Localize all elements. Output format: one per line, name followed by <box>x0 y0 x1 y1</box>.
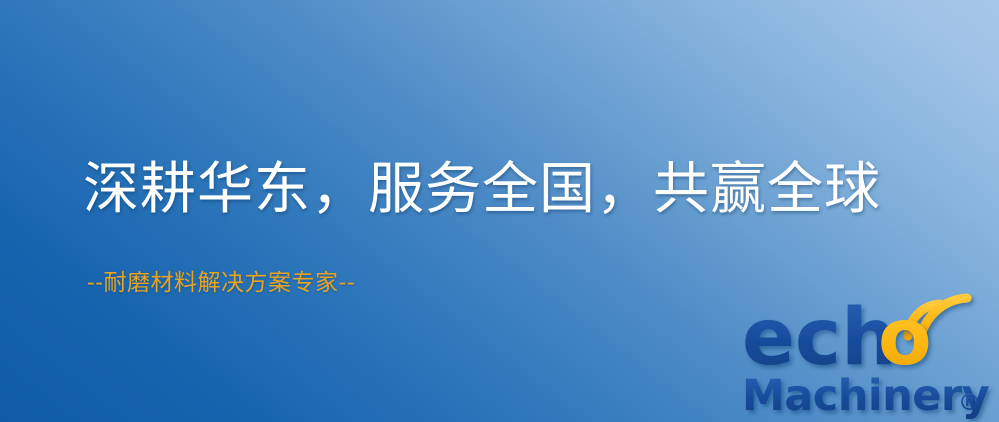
banner-headline: 深耕华东，服务全国，共赢全球 <box>83 158 881 222</box>
logo-svg: ech o Machinery ® <box>742 296 994 418</box>
logo-o-accent-text: o <box>878 293 932 383</box>
hero-banner: 深耕华东，服务全国，共赢全球 --耐磨材料解决方案专家-- <box>0 0 999 422</box>
echo-machinery-logo[interactable]: ech o Machinery ® <box>742 296 994 418</box>
logo-machinery-text: Machinery <box>742 371 990 421</box>
banner-subtitle: --耐磨材料解决方案专家-- <box>87 268 355 298</box>
logo-ech-text: ech <box>742 293 897 383</box>
logo-registered-mark: ® <box>958 390 981 416</box>
